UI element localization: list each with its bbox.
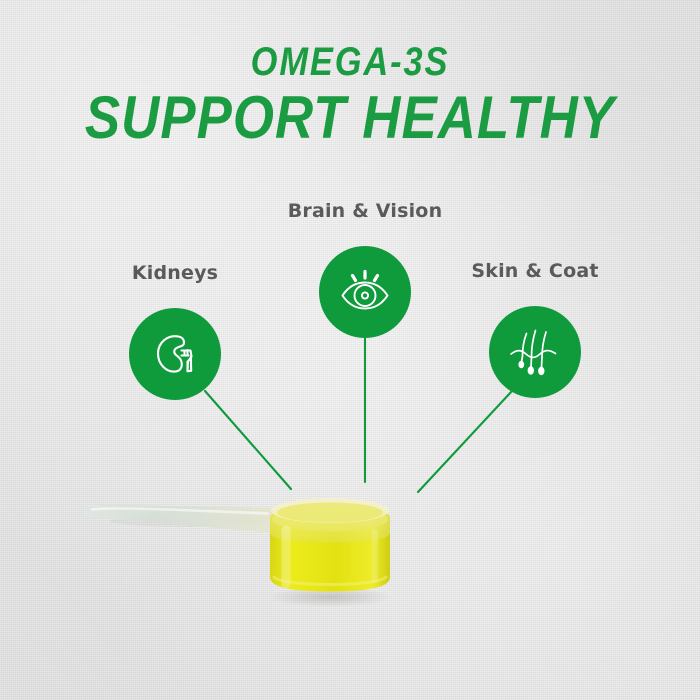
headline-line-2: SUPPORT HEALTHY [42, 86, 658, 149]
benefit-bubble-kidneys[interactable] [129, 308, 221, 400]
connector-line-skin [418, 391, 512, 492]
benefit-label-kidneys: Kidneys [132, 262, 218, 284]
connector-line-kidneys [205, 391, 291, 489]
benefit-label-skin-coat: Skin & Coat [471, 260, 598, 282]
benefit-bubble-skin-coat[interactable] [489, 306, 581, 398]
benefit-label-brain-vision: Brain & Vision [288, 200, 443, 222]
scoop-rim-inner [277, 503, 383, 523]
benefit-bubble-brain-vision[interactable] [319, 246, 411, 338]
hair-follicle-icon [506, 323, 564, 381]
kidney-icon [147, 326, 203, 382]
headline-line-1: OMEGA-3S [49, 42, 651, 82]
measuring-scoop [78, 488, 428, 608]
benefit-node-brain-vision[interactable]: Brain & Vision [319, 200, 411, 292]
benefit-node-skin-coat[interactable]: Skin & Coat [489, 260, 581, 352]
headline-block: OMEGA-3S SUPPORT HEALTHY [0, 42, 700, 149]
poster-canvas: OMEGA-3S SUPPORT HEALTHY Kidneys Brain &… [0, 0, 700, 700]
eye-icon [336, 263, 394, 321]
benefit-node-kidneys[interactable]: Kidneys [129, 262, 221, 354]
